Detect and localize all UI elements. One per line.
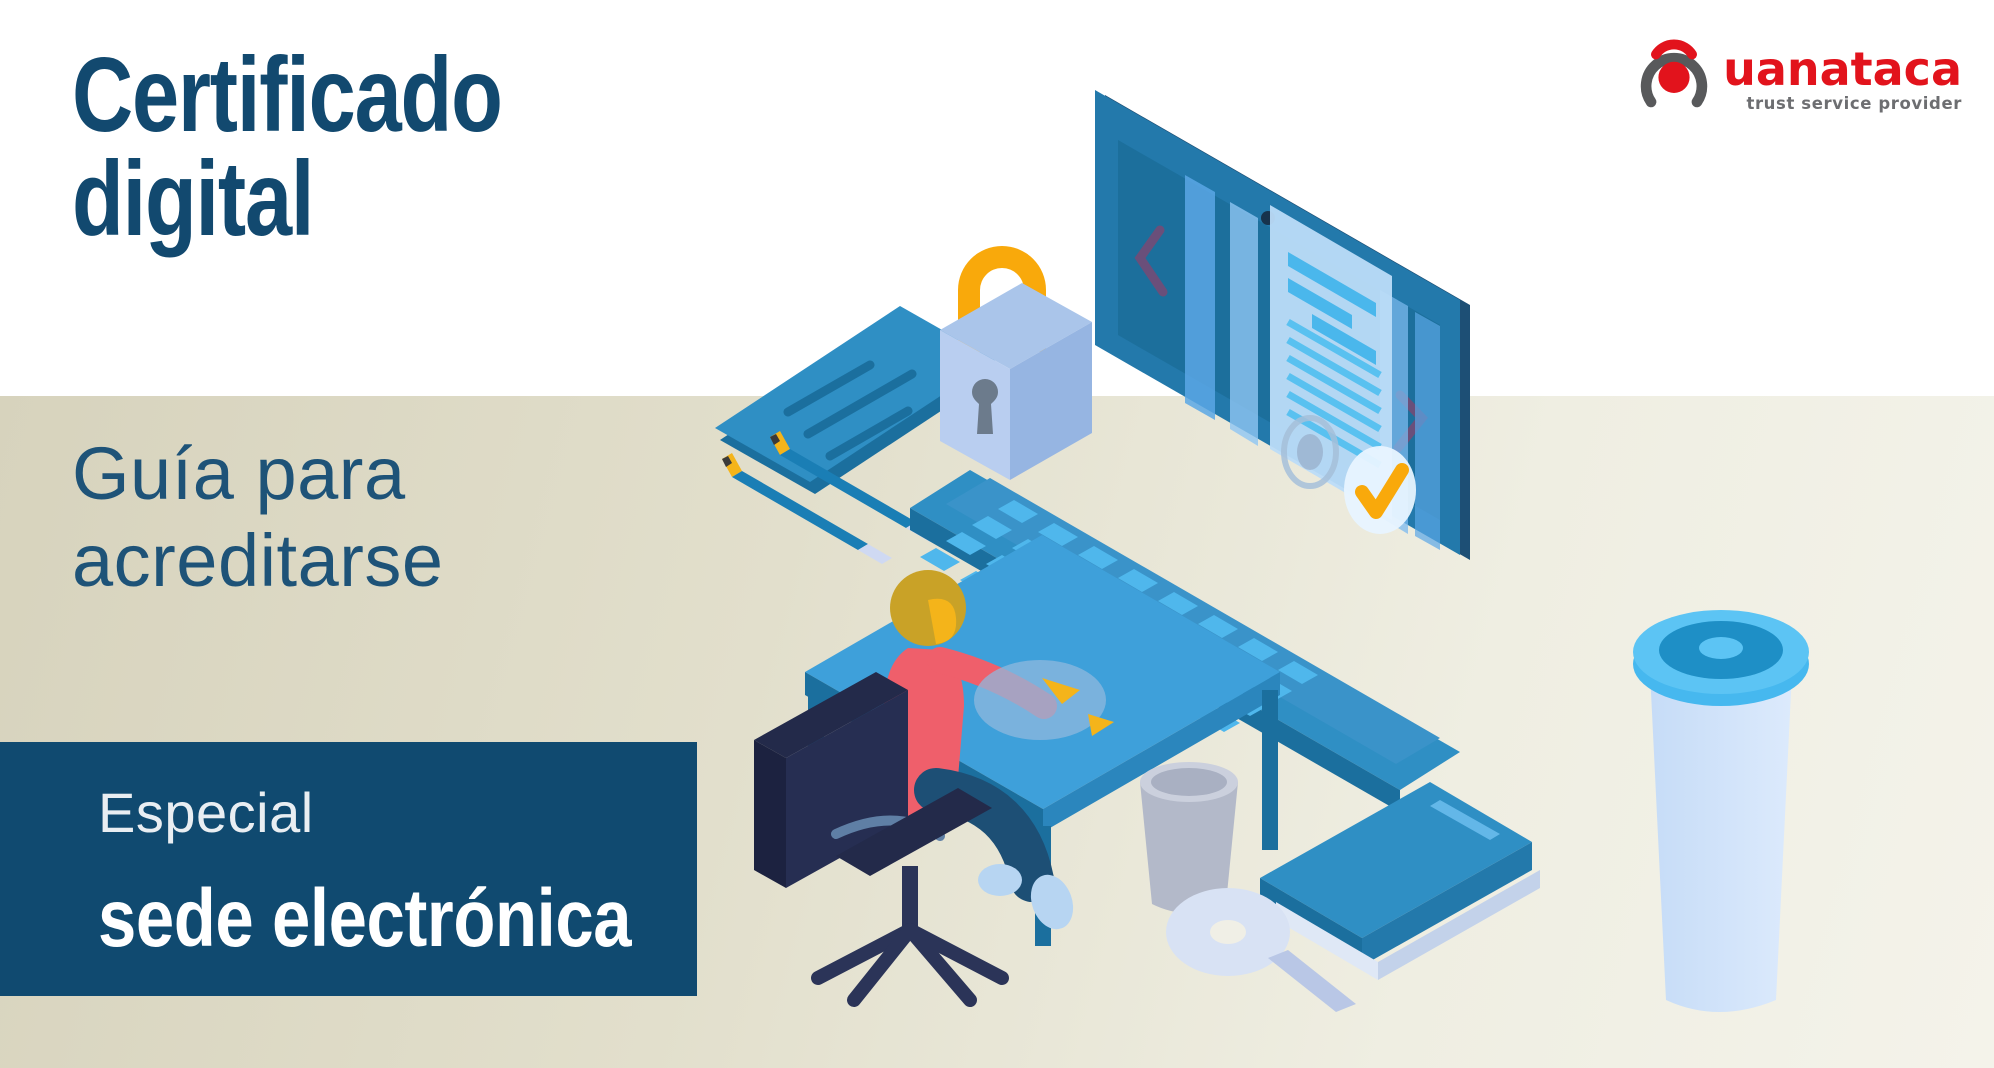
headline-title: Certificado digital bbox=[72, 44, 728, 252]
banner-root: Certificado digital Guía para acreditars… bbox=[0, 0, 1994, 1068]
verified-checkmark-icon bbox=[1344, 446, 1416, 534]
cup-icon bbox=[1633, 610, 1809, 1012]
special-badge-strong: sede electrónica bbox=[98, 872, 631, 966]
stapler-icon bbox=[1260, 782, 1540, 980]
special-badge-label: Especial bbox=[98, 780, 314, 845]
isometric-illustration bbox=[640, 0, 1994, 1068]
padlock-icon bbox=[940, 246, 1092, 480]
person-head bbox=[890, 570, 966, 646]
